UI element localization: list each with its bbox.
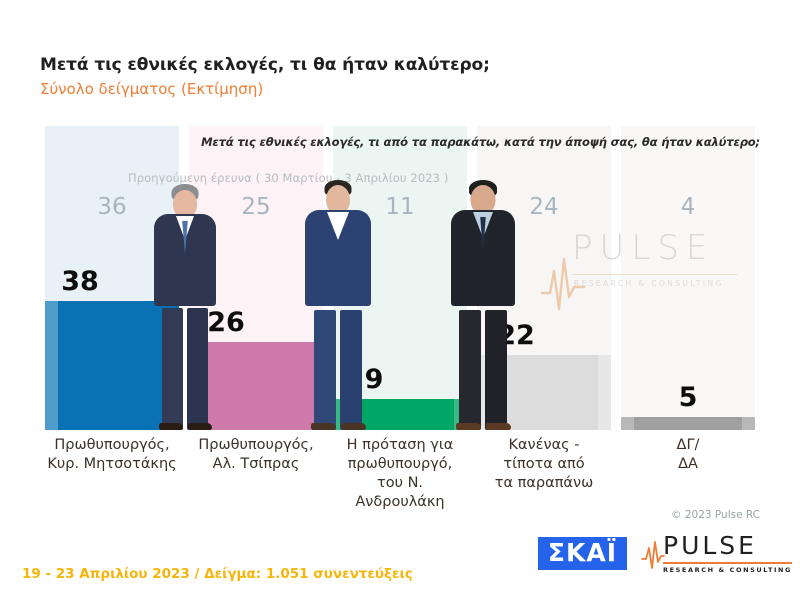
category-label-mitsotakis: Πρωθυπουργός, Κυρ. Μητσοτάκης xyxy=(40,436,184,513)
category-line: τα παραπάνω xyxy=(476,474,612,493)
bars-row: 38 26 9 xyxy=(40,126,760,430)
bar-dk-na: 5 xyxy=(621,417,755,430)
skai-logo: ΣΚΑΪ xyxy=(538,537,627,570)
category-line: Αλ. Τσίπρας xyxy=(188,455,324,474)
category-line: ΔΑ xyxy=(620,455,756,474)
bar-edge-left xyxy=(333,399,346,430)
copyright-text: © 2023 Pulse RC xyxy=(671,509,760,521)
page-subtitle: Σύνολο δείγματος (Εκτίμηση) xyxy=(40,80,760,98)
page-title: Μετά τις εθνικές εκλογές, τι θα ήταν καλ… xyxy=(40,55,760,75)
bar-edge-left xyxy=(477,355,490,430)
bar-none: 22 xyxy=(477,355,611,430)
bar-value-tsipras: 26 xyxy=(159,307,293,338)
bar-tsipras: 26 xyxy=(189,342,323,430)
category-line: τίποτα από xyxy=(476,455,612,474)
bar-cell-mitsotakis: 38 xyxy=(40,126,184,430)
bar-edge-left xyxy=(189,342,202,430)
category-label-tsipras: Πρωθυπουργός, Αλ. Τσίπρας xyxy=(184,436,328,513)
bar-value-none: 22 xyxy=(449,320,583,351)
header: Μετά τις εθνικές εκλογές, τι θα ήταν καλ… xyxy=(40,55,760,98)
category-line: Πρωθυπουργός, xyxy=(188,436,324,455)
category-label-androulakis: Η πρόταση για πρωθυπουργό, του Ν. Ανδρου… xyxy=(328,436,472,513)
category-label-dk-na: ΔΓ/ ΔΑ xyxy=(616,436,760,513)
footer-fieldwork-note: 19 - 23 Απριλίου 2023 / Δείγμα: 1.051 συ… xyxy=(22,566,413,582)
category-line: πρωθυπουργό, xyxy=(332,455,468,474)
pulse-wave-icon xyxy=(641,537,665,571)
bar-wrap: 9 xyxy=(333,399,467,430)
bar-value-mitsotakis: 38 xyxy=(13,266,147,297)
pulse-logo-rule xyxy=(663,562,792,564)
bar-cell-dk-na: 5 xyxy=(616,126,760,430)
bar-value-dk-na: 5 xyxy=(621,382,755,413)
category-line: Η πρόταση για xyxy=(332,436,468,455)
category-line: Κανένας - xyxy=(476,436,612,455)
bar-chart: PULSE RESEARCH & CONSULTING Μετά τις εθν… xyxy=(40,126,760,430)
category-label-none: Κανένας - τίποτα από τα παραπάνω xyxy=(472,436,616,513)
footer-logos: ΣΚΑΪ PULSE RESEARCH & CONSULTING xyxy=(538,533,792,574)
category-labels-row: Πρωθυπουργός, Κυρ. Μητσοτάκης Πρωθυπουργ… xyxy=(40,436,760,513)
bar-wrap: 22 xyxy=(477,355,611,430)
category-line: Κυρ. Μητσοτάκης xyxy=(44,455,180,474)
pulse-logo-title: PULSE xyxy=(663,533,792,558)
bar-edge-right xyxy=(454,399,467,430)
bar-edge-right xyxy=(742,417,755,430)
bar-value-androulakis: 9 xyxy=(307,364,441,395)
bar-edge-right xyxy=(598,355,611,430)
bar-edge-left xyxy=(621,417,634,430)
bar-wrap: 26 xyxy=(189,342,323,430)
category-line: του Ν. Ανδρουλάκη xyxy=(332,474,468,512)
pulse-logo-subtitle: RESEARCH & CONSULTING xyxy=(663,566,792,574)
bar-cell-androulakis: 9 xyxy=(328,126,472,430)
bar-edge-left xyxy=(45,301,58,430)
category-line: ΔΓ/ xyxy=(620,436,756,455)
category-line: Πρωθυπουργός, xyxy=(44,436,180,455)
pulse-logo: PULSE RESEARCH & CONSULTING xyxy=(641,533,792,574)
bar-androulakis: 9 xyxy=(333,399,467,430)
bar-cell-none: 22 xyxy=(472,126,616,430)
bar-wrap: 5 xyxy=(621,417,755,430)
